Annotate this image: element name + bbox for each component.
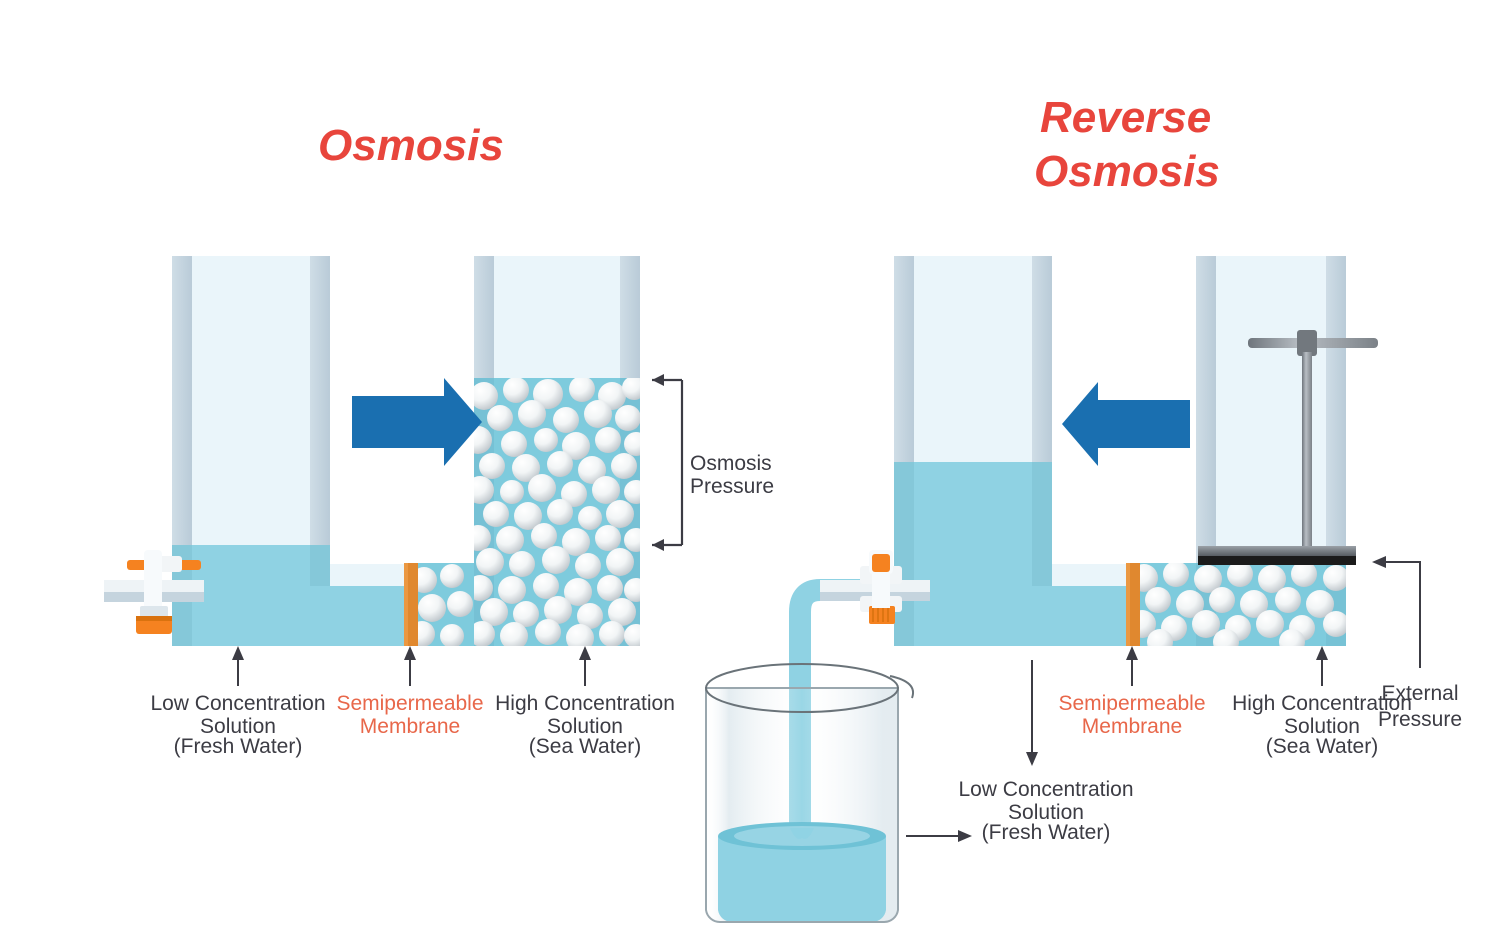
osmosis-pressure-label-line2: Pressure: [690, 475, 774, 498]
osmosis-flow-arrow: [352, 378, 482, 466]
solute-molecules-right-tube: [464, 376, 648, 652]
low-concentration-label-line1: Low Concentration: [150, 692, 325, 715]
membrane-label-line2: Membrane: [360, 715, 460, 738]
osmosis-pressure-bracket: [652, 374, 682, 551]
collection-beaker: [706, 664, 913, 922]
membrane-label-line1: Semipermeable: [336, 692, 483, 715]
leader-lines-left: [232, 646, 591, 686]
high-concentration-label-line1: High Concentration: [495, 692, 675, 715]
reverse-osmosis-apparatus: External Pressure Semipermeable Membrane…: [706, 256, 1462, 922]
reverse-low-concentration-water: [894, 462, 1134, 646]
high-concentration-label-line3: (Sea Water): [529, 735, 641, 758]
reverse-low-concentration-label-line3: (Fresh Water): [982, 821, 1111, 844]
reverse-flow-arrow: [1062, 382, 1190, 466]
reverse-osmosis-title-line2: Osmosis: [1034, 147, 1220, 196]
reverse-membrane-label-line1: Semipermeable: [1058, 692, 1205, 715]
solute-molecules-channel: [409, 564, 473, 648]
reverse-high-concentration-label-line1: High Concentration: [1232, 692, 1412, 715]
low-concentration-label-line3: (Fresh Water): [174, 735, 303, 758]
reverse-membrane-label-line2: Membrane: [1082, 715, 1182, 738]
osmosis-apparatus: Osmosis Pressure Low Concentration Solut…: [104, 256, 774, 758]
reverse-low-concentration-label-line1: Low Concentration: [958, 778, 1133, 801]
osmosis-reverse-osmosis-illustration: Osmosis Reverse Osmosis: [0, 0, 1500, 938]
osmosis-pressure-label-line1: Osmosis: [690, 452, 772, 475]
reverse-high-concentration-label-line3: (Sea Water): [1266, 735, 1378, 758]
diagram-canvas: Osmosis Reverse Osmosis: [0, 0, 1500, 938]
osmosis-title: Osmosis: [318, 121, 504, 170]
reverse-osmosis-title-line1: Reverse: [1040, 93, 1211, 142]
